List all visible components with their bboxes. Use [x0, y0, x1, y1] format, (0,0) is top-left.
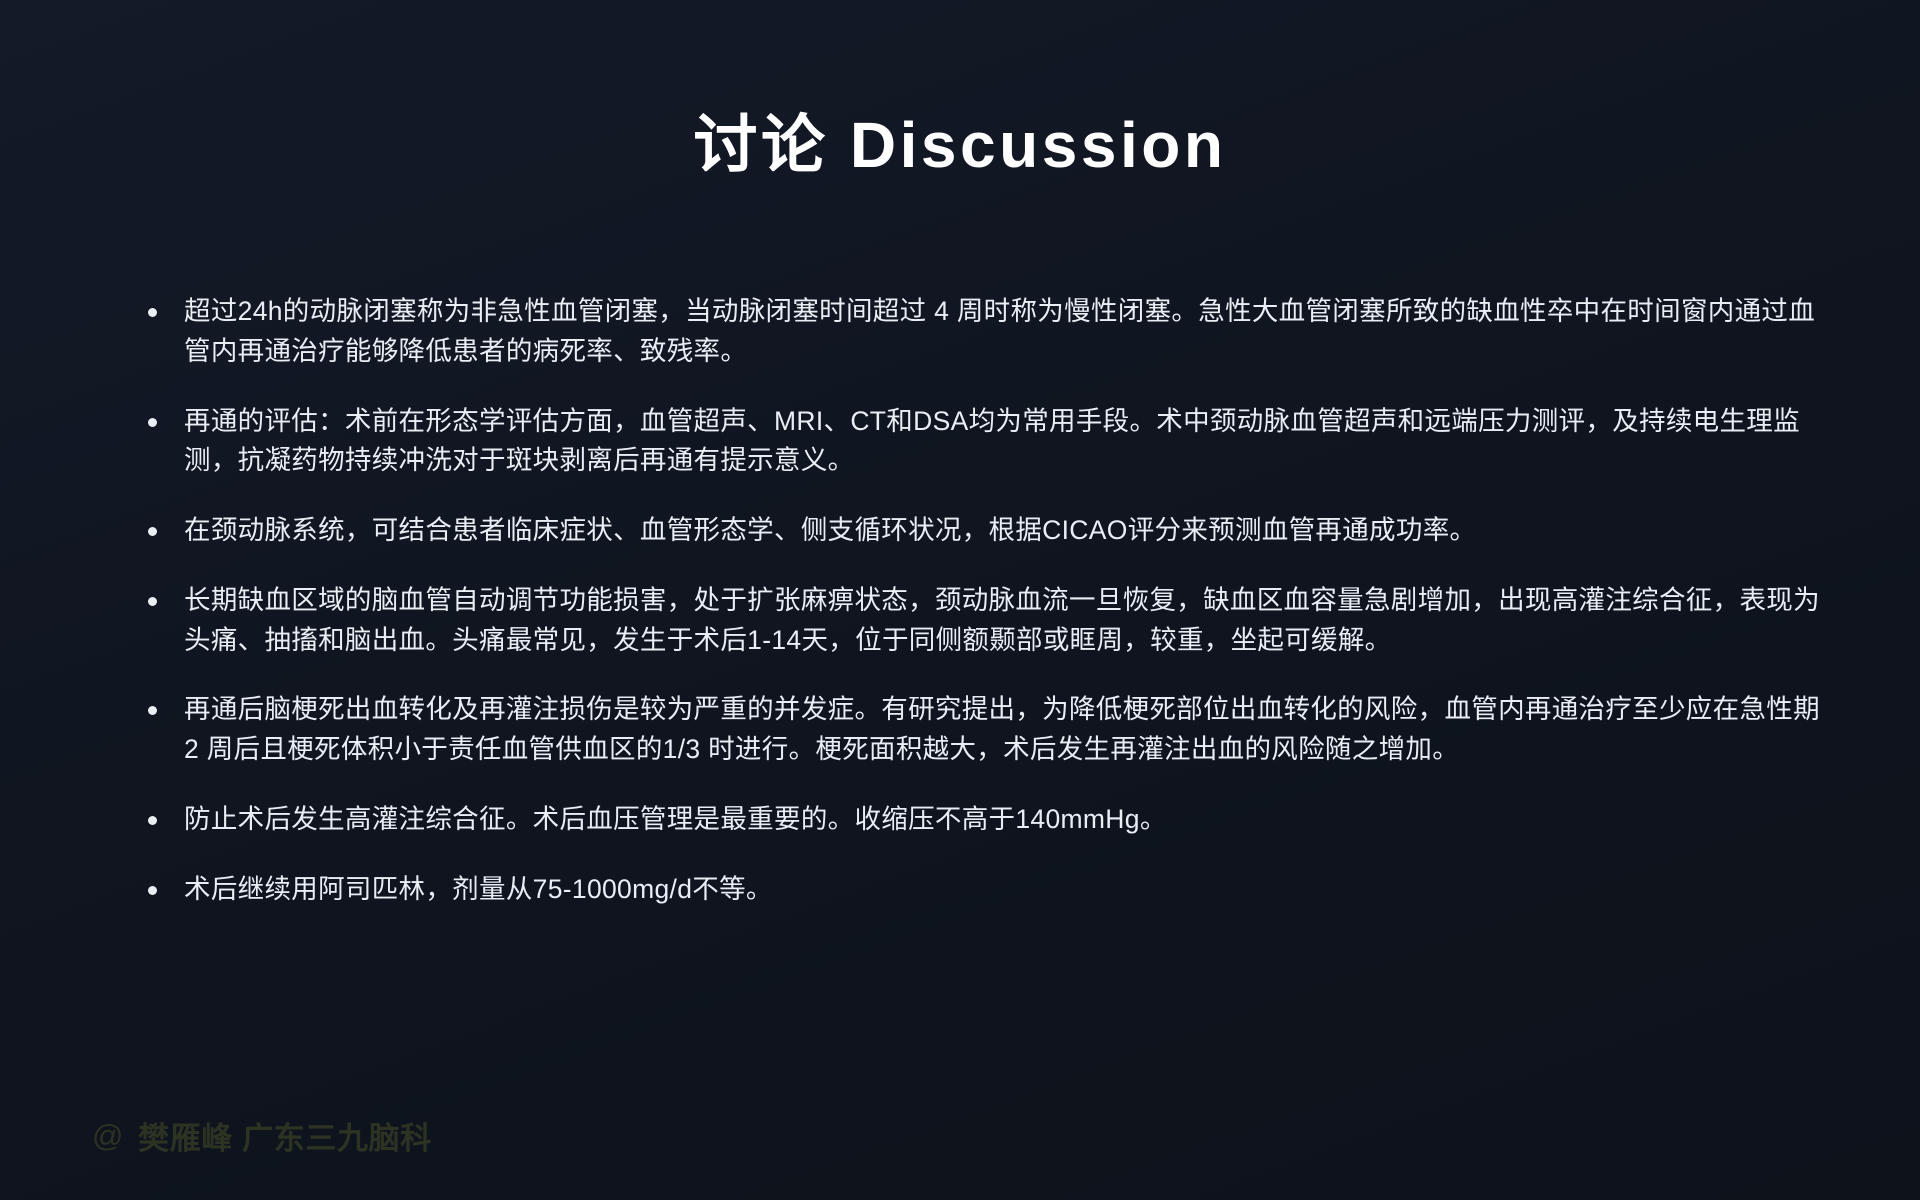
watermark-author-label: 樊雁峰 广东三九脑科 — [138, 1113, 432, 1158]
bullet-text: 术后继续用阿司匹林，剂量从75-1000mg/d不等。 — [184, 870, 1824, 910]
bullet-text: 再通后脑梗死出血转化及再灌注损伤是较为严重的并发症。有研究提出，为降低梗死部位出… — [184, 690, 1824, 770]
bullet-dot-icon — [148, 816, 157, 825]
bullet-dot-icon — [148, 706, 157, 715]
list-item: 长期缺血区域的脑血管自动调节功能损害，处于扩张麻痹状态，颈动脉血流一旦恢复，缺血… — [142, 581, 1824, 661]
at-symbol-icon: @ — [92, 1118, 124, 1154]
bullet-dot-icon — [148, 308, 157, 317]
bullet-dot-icon — [148, 597, 157, 606]
discussion-bullet-list: 超过24h的动脉闭塞称为非急性血管闭塞，当动脉闭塞时间超过 4 周时称为慢性闭塞… — [142, 292, 1824, 909]
presentation-slide: 讨论 Discussion 超过24h的动脉闭塞称为非急性血管闭塞，当动脉闭塞时… — [0, 0, 1920, 1200]
list-item: 再通的评估：术前在形态学评估方面，血管超声、MRI、CT和DSA均为常用手段。术… — [142, 402, 1824, 482]
watermark: @ 樊雁峰 广东三九脑科 — [92, 1113, 432, 1158]
bullet-text: 再通的评估：术前在形态学评估方面，血管超声、MRI、CT和DSA均为常用手段。术… — [184, 402, 1824, 482]
list-item: 防止术后发生高灌注综合征。术后血压管理是最重要的。收缩压不高于140mmHg。 — [142, 800, 1824, 840]
bullet-text: 长期缺血区域的脑血管自动调节功能损害，处于扩张麻痹状态，颈动脉血流一旦恢复，缺血… — [184, 581, 1824, 661]
list-item: 术后继续用阿司匹林，剂量从75-1000mg/d不等。 — [142, 870, 1824, 910]
list-item: 超过24h的动脉闭塞称为非急性血管闭塞，当动脉闭塞时间超过 4 周时称为慢性闭塞… — [142, 292, 1824, 372]
bullet-dot-icon — [148, 418, 157, 427]
bullet-dot-icon — [148, 886, 157, 895]
page-title: 讨论 Discussion — [0, 0, 1920, 179]
bullet-text: 防止术后发生高灌注综合征。术后血压管理是最重要的。收缩压不高于140mmHg。 — [184, 800, 1824, 840]
bullet-text: 超过24h的动脉闭塞称为非急性血管闭塞，当动脉闭塞时间超过 4 周时称为慢性闭塞… — [184, 292, 1824, 372]
list-item: 再通后脑梗死出血转化及再灌注损伤是较为严重的并发症。有研究提出，为降低梗死部位出… — [142, 690, 1824, 770]
bullet-dot-icon — [148, 527, 157, 536]
list-item: 在颈动脉系统，可结合患者临床症状、血管形态学、侧支循环状况，根据CICAO评分来… — [142, 511, 1824, 551]
bullet-text: 在颈动脉系统，可结合患者临床症状、血管形态学、侧支循环状况，根据CICAO评分来… — [184, 511, 1824, 551]
